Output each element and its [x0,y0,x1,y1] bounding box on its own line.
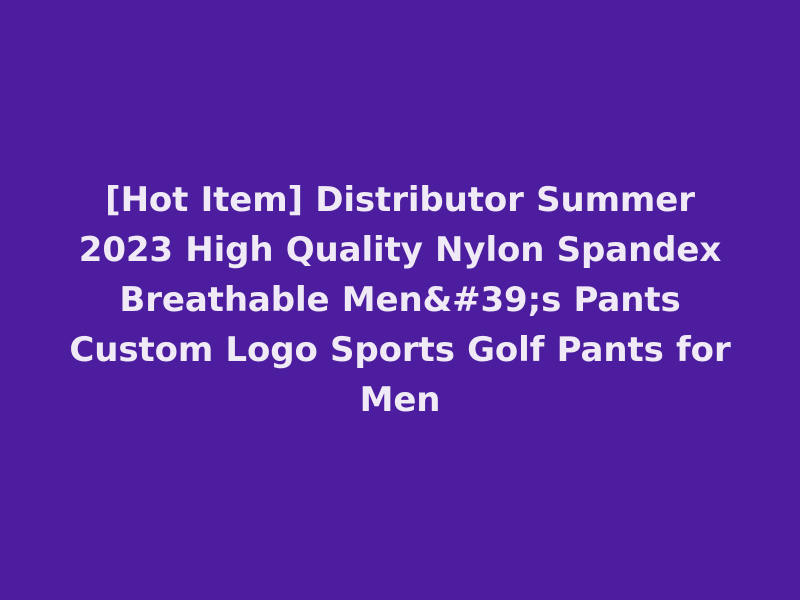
title-block: [Hot Item] Distributor Summer 2023 High … [50,175,750,425]
page-title: [Hot Item] Distributor Summer 2023 High … [60,175,740,425]
product-title-card: [Hot Item] Distributor Summer 2023 High … [0,0,800,600]
